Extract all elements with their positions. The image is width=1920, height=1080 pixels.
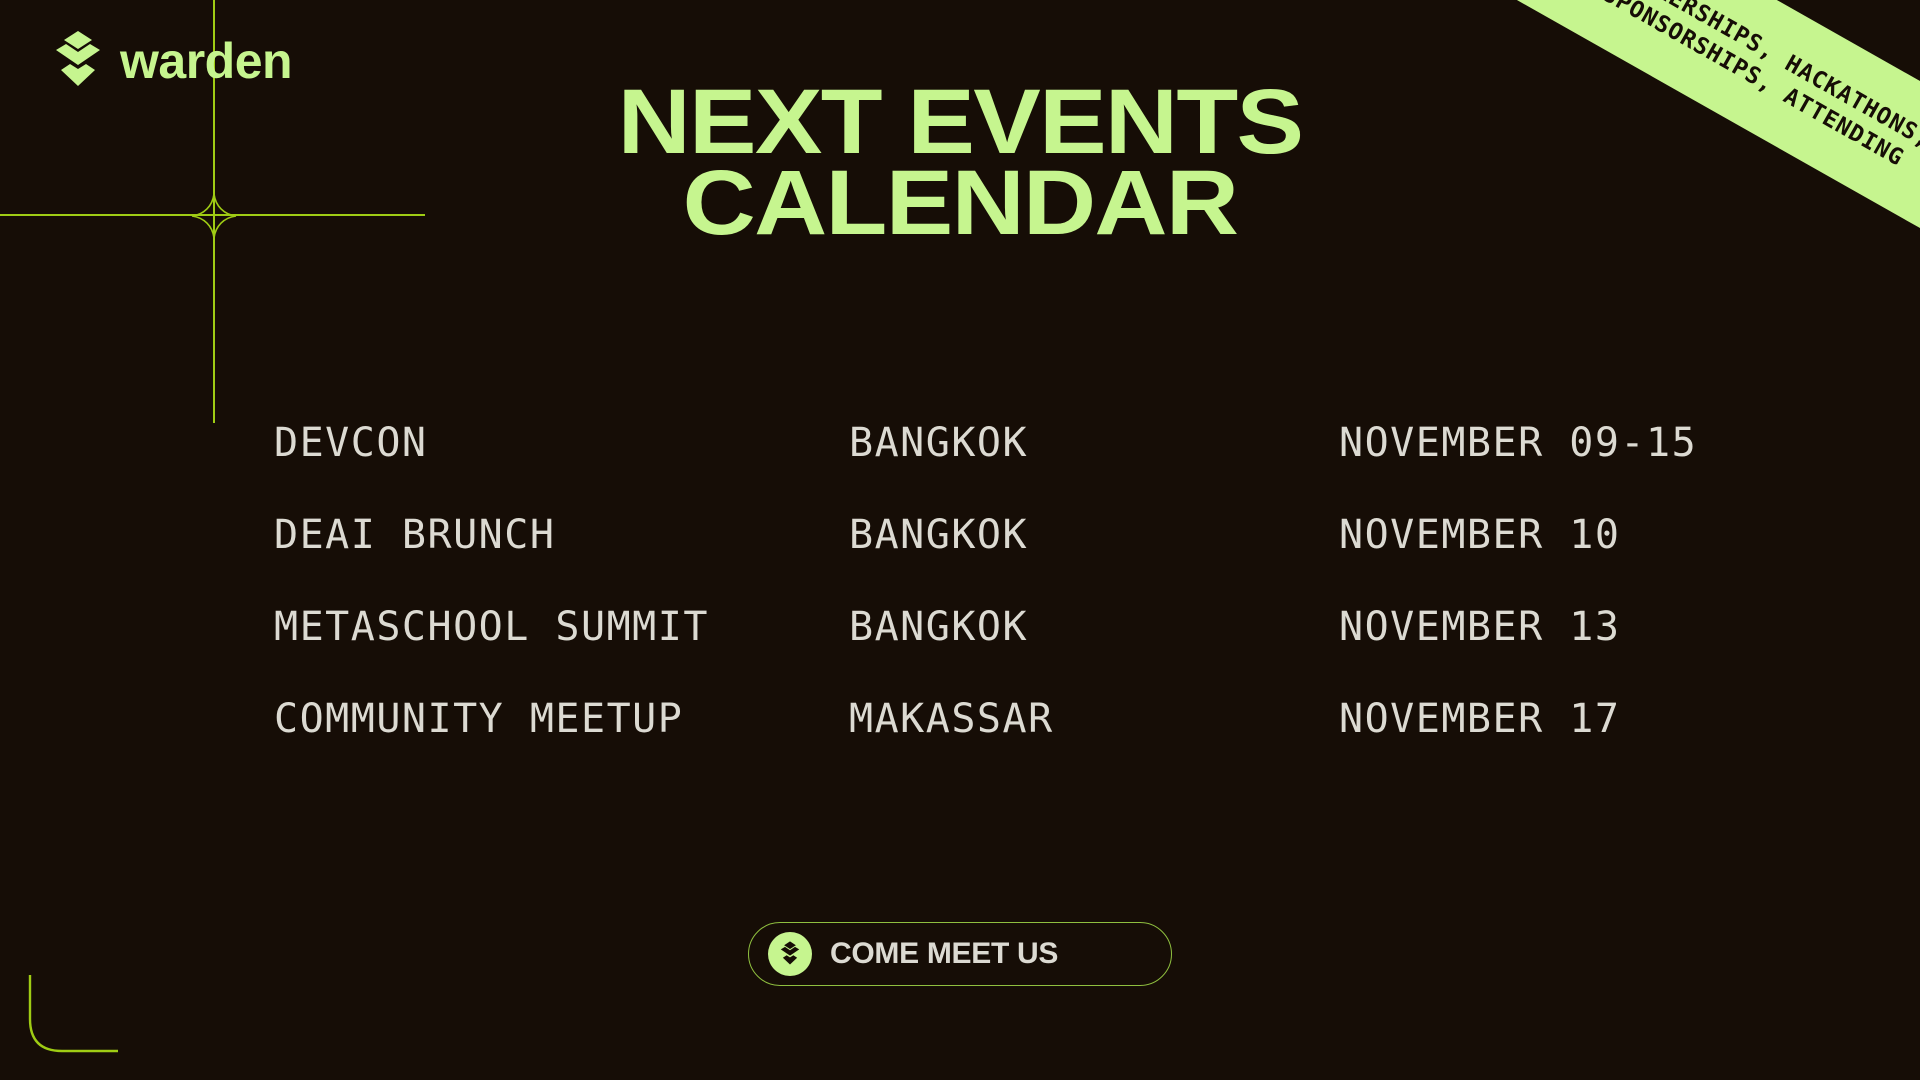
event-date: NOVEMBER 09-15 — [1339, 420, 1697, 466]
table-row: DEVCON BANGKOK NOVEMBER 09-15 — [274, 420, 1694, 512]
brand-wordmark: warden — [120, 36, 292, 86]
corner-bracket-decoration — [28, 975, 118, 1060]
warden-layers-icon — [768, 932, 812, 976]
event-city: BANGKOK — [849, 420, 1339, 466]
event-name: COMMUNITY MEETUP — [274, 696, 849, 742]
page-title-line-1: NEXT EVENTS — [0, 82, 1920, 163]
event-city: BANGKOK — [849, 512, 1339, 558]
events-table: DEVCON BANGKOK NOVEMBER 09-15 DEAI BRUNC… — [274, 420, 1694, 788]
event-date: NOVEMBER 10 — [1339, 512, 1620, 558]
event-date: NOVEMBER 17 — [1339, 696, 1620, 742]
event-date: NOVEMBER 13 — [1339, 604, 1620, 650]
event-city: MAKASSAR — [849, 696, 1339, 742]
event-name: DEVCON — [274, 420, 849, 466]
event-name: DEAI BRUNCH — [274, 512, 849, 558]
event-name: METASCHOOL SUMMIT — [274, 604, 849, 650]
events-calendar-poster: warden SPEAKERSHIPS, HACKATHONS, SPONSOR… — [0, 0, 1920, 1080]
come-meet-us-button[interactable]: COME MEET US — [748, 922, 1172, 986]
table-row: DEAI BRUNCH BANGKOK NOVEMBER 10 — [274, 512, 1694, 604]
come-meet-us-label: COME MEET US — [830, 939, 1058, 969]
table-row: COMMUNITY MEETUP MAKASSAR NOVEMBER 17 — [274, 696, 1694, 788]
table-row: METASCHOOL SUMMIT BANGKOK NOVEMBER 13 — [274, 604, 1694, 696]
page-title: NEXT EVENTS CALENDAR — [0, 82, 1920, 244]
page-title-line-2: CALENDAR — [0, 163, 1920, 244]
event-city: BANGKOK — [849, 604, 1339, 650]
